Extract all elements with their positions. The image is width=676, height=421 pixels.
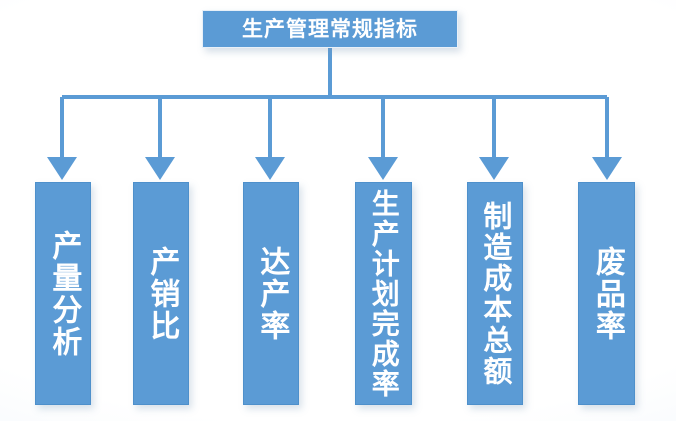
leaf-node-5: 制造成本总额 — [467, 182, 523, 405]
leaf-node-6: 废品率 — [578, 182, 635, 405]
leaf-node-2: 产销比 — [133, 182, 189, 405]
root-node-label: 生产管理常规指标 — [242, 19, 418, 40]
leaf-node-6-label: 废品率 — [589, 246, 624, 342]
leaf-node-5-label: 制造成本总额 — [478, 201, 512, 387]
leaf-node-1: 产量分析 — [35, 182, 91, 405]
arrowhead-1 — [47, 157, 77, 180]
connector-lines — [0, 0, 676, 421]
connector-arrowheads — [47, 157, 622, 180]
leaf-node-4: 生产计划完成率 — [355, 182, 412, 405]
org-chart-diagram: 生产管理常规指标 产量分析 产销比 达产率 生产计划完成率 制造成本总额 废品率 — [0, 0, 676, 421]
arrowhead-6 — [592, 157, 622, 180]
leaf-node-1-label: 产量分析 — [46, 230, 81, 358]
root-node: 生产管理常规指标 — [202, 10, 458, 48]
leaf-node-3: 达产率 — [243, 182, 299, 405]
arrowhead-5 — [479, 157, 509, 180]
arrowhead-3 — [255, 157, 285, 180]
arrowhead-2 — [145, 157, 175, 180]
leaf-node-3-label: 达产率 — [254, 246, 289, 342]
leaf-node-2-label: 产销比 — [144, 246, 179, 342]
arrowhead-4 — [368, 157, 398, 180]
leaf-node-4-label: 生产计划完成率 — [367, 189, 399, 399]
